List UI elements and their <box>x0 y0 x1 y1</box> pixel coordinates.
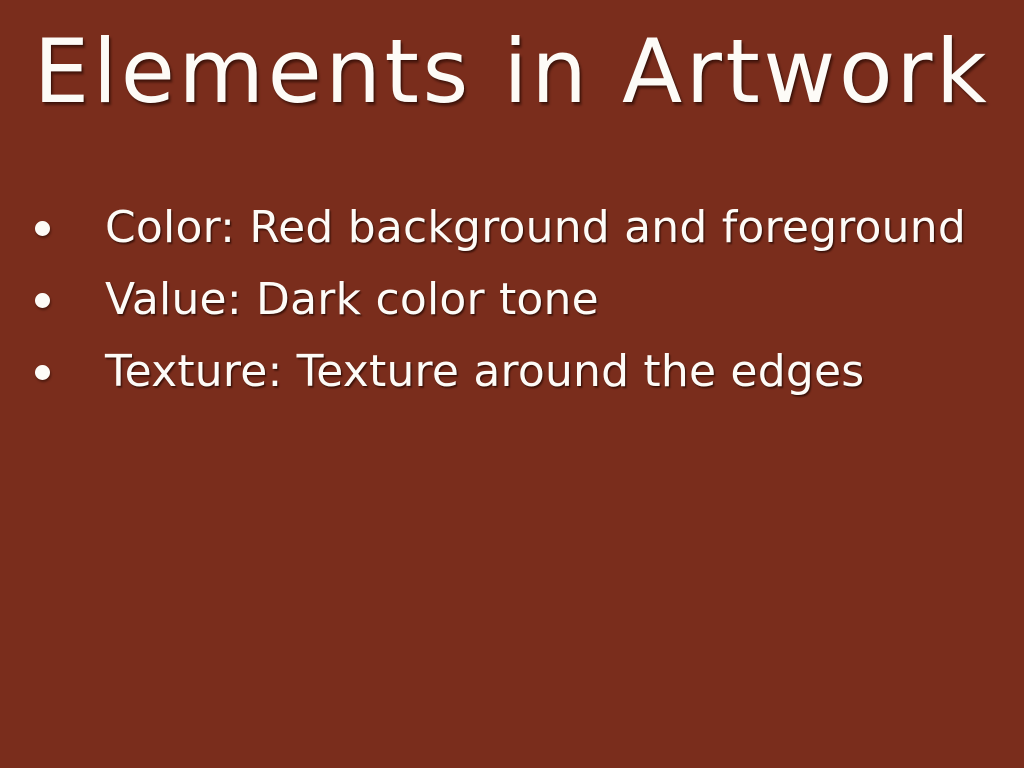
list-item: Color: Red background and foreground <box>0 192 1024 264</box>
list-item-label: Texture: Texture around the edges <box>105 350 864 394</box>
list-item: Value: Dark color tone <box>0 264 1024 336</box>
slide-empty-area <box>0 410 1024 768</box>
bullet-dot-icon <box>35 293 50 308</box>
list-item-label: Value: Dark color tone <box>105 278 599 322</box>
bullet-list: Color: Red background and foreground Val… <box>0 192 1024 408</box>
list-item-label: Color: Red background and foreground <box>105 206 966 250</box>
presentation-slide: Elements in Artwork Color: Red backgroun… <box>0 0 1024 768</box>
bullet-dot-icon <box>35 221 50 236</box>
bullet-dot-icon <box>35 365 50 380</box>
slide-title-block: Elements in Artwork <box>0 24 1024 119</box>
page-title: Elements in Artwork <box>0 24 1024 119</box>
list-item: Texture: Texture around the edges <box>0 336 1024 408</box>
